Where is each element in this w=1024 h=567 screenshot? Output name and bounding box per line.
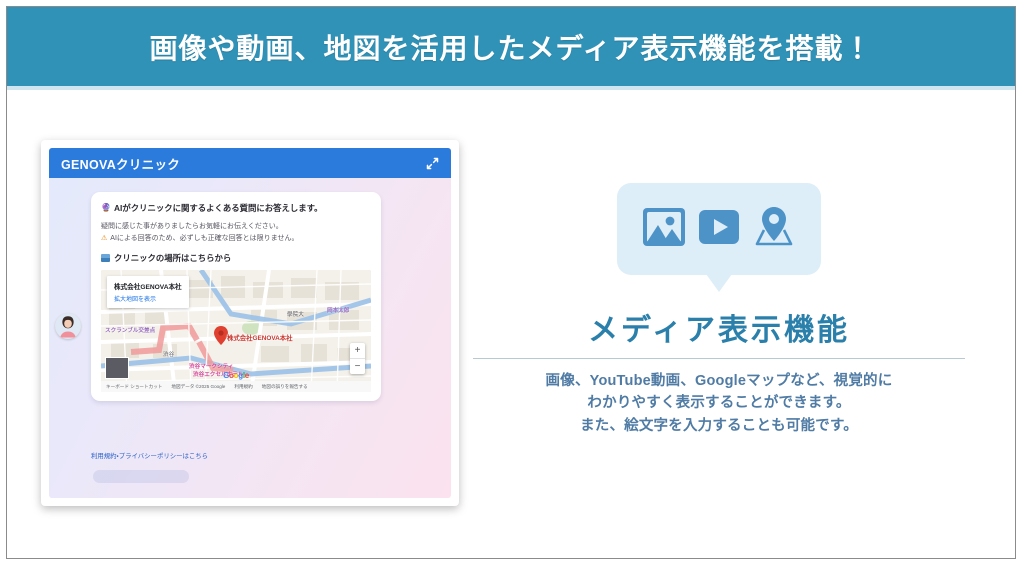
banner-title: 画像や動画、地図を活用したメディア表示機能を搭載！ (149, 27, 872, 67)
map-info-card[interactable]: 株式会社GENOVA本社 拡大地図を表示 (107, 276, 189, 308)
feature-body-line1: 画像、YouTube動画、Googleマップなど、視覚的に (469, 370, 969, 392)
map-footer-attribution: 地図データ ©2025 Google (171, 384, 225, 390)
map-poi-okamoto: 岡本太郎 (327, 306, 349, 314)
feature-body-line3: また、絵文字を入力することも可能です。 (469, 415, 969, 437)
map-section-heading: クリニックの場所はこちらから (101, 252, 371, 264)
map-footer: キーボード ショートカット 地図データ ©2025 Google 利用規約 地図… (101, 381, 371, 392)
message-line-greeting: 🔮 AIがクリニックに関するよくある質問にお答えします。 (101, 202, 371, 214)
map-pin-icon (751, 204, 797, 255)
map-footer-terms[interactable]: 利用規約 (234, 384, 252, 390)
map-heading-text: クリニックの場所はこちらから (114, 252, 231, 264)
message-disclaimer-text: AIによる回答のため、必ずしも正確な回答とは限りません。 (110, 233, 298, 245)
widget-title: GENOVAクリニック (61, 154, 180, 173)
slide-banner: 画像や動画、地図を活用したメディア表示機能を搭載！ (7, 7, 1015, 86)
map-zoom-out-button[interactable]: − (350, 359, 365, 374)
feature-panel: メディア表示機能 画像、YouTube動画、Googleマップなど、視覚的に わ… (469, 183, 969, 437)
map-poi-mark-city: 渋谷マークシティ (189, 362, 233, 370)
message-line-invite: 疑問に感じた事がありましたらお気軽にお伝えください。 (101, 221, 371, 233)
google-logo: Google (223, 371, 249, 380)
map-pin-marker[interactable] (214, 326, 228, 350)
widget-terms-link[interactable]: 利用規約・プライバシーポリシーはこちら (91, 451, 208, 460)
feature-body-line2: わかりやすく表示することができます。 (469, 392, 969, 414)
map-expand-link[interactable]: 拡大地図を表示 (114, 294, 182, 303)
map-zoom-controls[interactable]: + − (350, 343, 365, 374)
map-zoom-in-button[interactable]: + (350, 343, 365, 358)
map-footer-shortcuts[interactable]: キーボード ショートカット (106, 384, 162, 390)
message-line-disclaimer: ⚠ AIによる回答のため、必ずしも正確な回答とは限りません。 (101, 233, 371, 245)
image-icon (641, 204, 687, 255)
chat-widget-screenshot: GENOVAクリニック (41, 140, 459, 506)
google-logo-e: e (245, 371, 249, 380)
feature-title: メディア表示機能 (469, 305, 969, 349)
slide: 画像や動画、地図を活用したメディア表示機能を搭載！ GENOVAクリニック (6, 6, 1016, 559)
map-poi-shibuya: 渋谷 (163, 350, 174, 358)
map-footer-report[interactable]: 地図の誤りを報告する (262, 384, 308, 390)
banner-underline (7, 86, 1015, 90)
feature-icon-bubble (617, 183, 821, 275)
bubble-tail (706, 274, 732, 292)
operator-avatar (55, 313, 81, 339)
expand-arrows-icon[interactable] (426, 157, 439, 170)
message-greeting-text: AIがクリニックに関するよくある質問にお答えします。 (114, 202, 323, 214)
map-streetview-thumbnail[interactable] (105, 357, 129, 379)
crystal-ball-icon: 🔮 (101, 202, 111, 214)
map-poi-scramble: スクランブル交差点 (105, 326, 155, 334)
video-play-icon (696, 204, 742, 255)
chat-message-bubble: 🔮 AIがクリニックに関するよくある質問にお答えします。 疑問に感じた事がありま… (91, 192, 381, 401)
chat-widget: GENOVAクリニック (49, 148, 451, 498)
map-pin-label: 株式会社GENOVA本社 (227, 333, 293, 342)
feature-divider (473, 358, 965, 359)
google-map-embed[interactable]: 株式会社GENOVA本社 拡大地図を表示 株式会社GENOVA本社 スクランブル… (101, 270, 371, 392)
warning-icon: ⚠ (101, 233, 107, 245)
map-info-title: 株式会社GENOVA本社 (114, 281, 182, 291)
widget-input-bar[interactable] (93, 470, 189, 483)
widget-header: GENOVAクリニック (49, 148, 451, 178)
feature-description: 画像、YouTube動画、Googleマップなど、視覚的に わかりやすく表示する… (469, 370, 969, 437)
map-poi-gakuin: 學院大 (287, 310, 304, 318)
map-emoji-icon (101, 254, 110, 262)
